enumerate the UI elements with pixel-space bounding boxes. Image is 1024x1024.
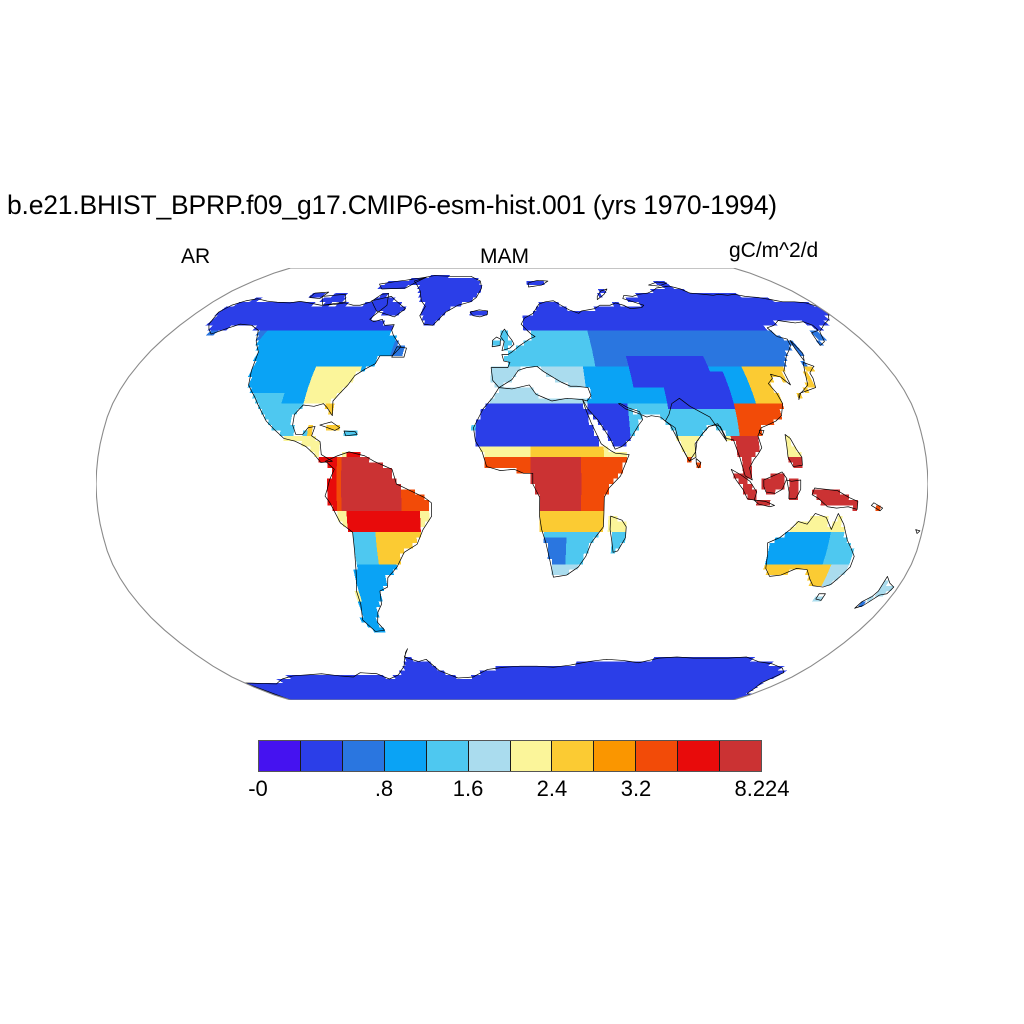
world-map	[96, 268, 928, 700]
colorbar-segment-9[interactable]	[636, 741, 678, 771]
colorbar-segment-2[interactable]	[343, 741, 385, 771]
gpp-data-layer	[206, 275, 895, 700]
map-frame	[96, 268, 928, 700]
figure-root: b.e21.BHIST_BPRP.f09_g17.CMIP6-esm-hist.…	[0, 0, 1024, 1024]
map-panel	[96, 268, 928, 700]
coastline-novaya	[597, 289, 607, 300]
colorbar-tick-5: 8.224	[734, 778, 789, 800]
colorbar-tick-2: 1.6	[453, 778, 484, 800]
colorbar-segment-8[interactable]	[594, 741, 636, 771]
colorbar-segment-6[interactable]	[511, 741, 553, 771]
colorbar-tick-4: 3.2	[621, 778, 652, 800]
colorbar-tick-labels: -0.81.62.43.28.224	[0, 778, 1024, 808]
coastline-fiji	[916, 530, 920, 534]
colorbar-segment-7[interactable]	[552, 741, 594, 771]
colorbar-tick-3: 2.4	[537, 778, 568, 800]
colorbar-segment-0[interactable]	[259, 741, 301, 771]
units-label: gC/m^2/d	[729, 240, 818, 261]
colorbar-segment-1[interactable]	[301, 741, 343, 771]
variable-label: AR	[181, 246, 210, 267]
colorbar-tick-0: -0	[248, 778, 268, 800]
colorbar-segment-5[interactable]	[469, 741, 511, 771]
colorbar-segment-4[interactable]	[427, 741, 469, 771]
colorbar-segment-3[interactable]	[385, 741, 427, 771]
colorbar-tick-1: .8	[375, 778, 393, 800]
colorbar-segment-10[interactable]	[678, 741, 720, 771]
colorbar-segment-11[interactable]	[720, 741, 761, 771]
season-label: MAM	[480, 246, 529, 267]
colorbar[interactable]	[258, 740, 762, 772]
page-title: b.e21.BHIST_BPRP.f09_g17.CMIP6-esm-hist.…	[7, 192, 1019, 219]
